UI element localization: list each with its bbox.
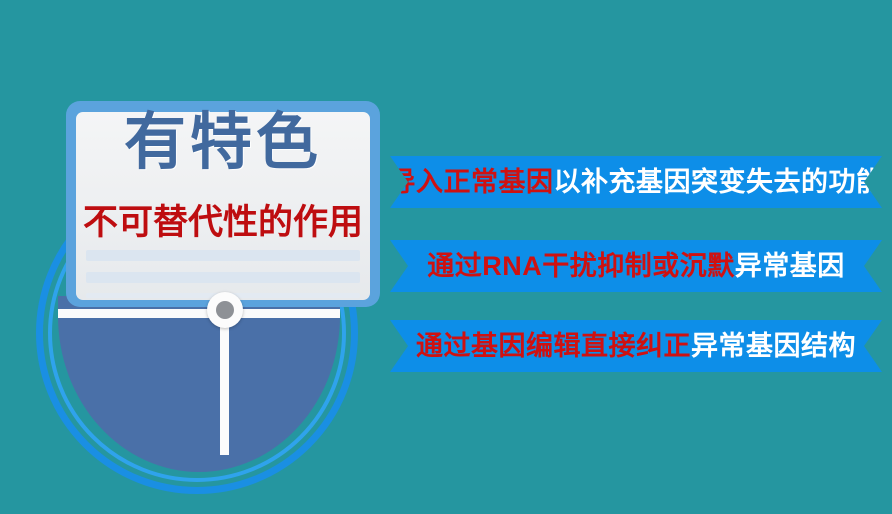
ribbon-3-white-text: 异常基因结构: [691, 333, 856, 360]
screen-placeholder-line: [86, 272, 360, 283]
ribbon-bar-2[interactable]: 通过RNA干扰抑制或沉默异常基因: [390, 240, 882, 292]
ribbon-2-red-text: 通过RNA干扰抑制或沉默: [427, 253, 735, 280]
ribbon-bar-3[interactable]: 通过基因编辑直接纠正异常基因结构: [390, 320, 882, 372]
infographic-canvas: 有特色 不可替代性的作用 导入正常基因以补充基因突变失去的功能 通过RNA干扰抑…: [0, 0, 892, 514]
ribbon-1-white-text: 以补充基因突变失去的功能: [554, 169, 884, 196]
base-divider-vertical: [220, 312, 229, 455]
headline-main: 有特色: [76, 112, 370, 174]
base-divider-horizontal: [58, 309, 340, 318]
circle-knob-center-icon: [216, 301, 234, 319]
headline-sub: 不可替代性的作用: [76, 205, 370, 240]
ribbon-bar-1[interactable]: 导入正常基因以补充基因突变失去的功能: [390, 156, 882, 208]
ribbon-1-red-text: 导入正常基因: [389, 169, 554, 196]
device-illustration-group: 有特色 不可替代性的作用: [0, 0, 400, 514]
ribbon-2-white-text: 异常基因: [735, 253, 845, 280]
ribbon-3-red-text: 通过基因编辑直接纠正: [416, 333, 691, 360]
screen-placeholder-line: [86, 250, 360, 261]
